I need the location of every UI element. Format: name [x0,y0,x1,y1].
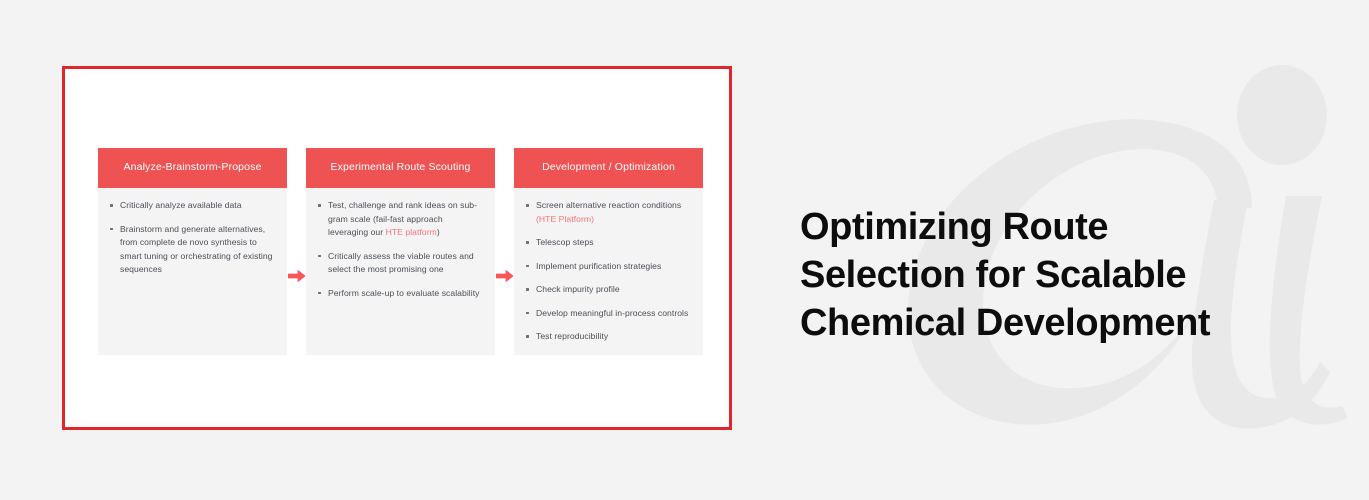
stage-body-development-optimization: Screen alternative reaction conditions (… [514,188,703,355]
bullet-text: Perform scale-up to evaluate scalability [328,288,480,298]
stage-column-experimental-route-scouting[interactable]: Experimental Route Scouting Test, challe… [306,148,495,355]
bullet-item: Critically assess the viable routes and … [316,250,485,277]
page-title-line-1: Optimizing Route [800,203,1320,251]
page-title-line-2: Selection for Scalable [800,251,1320,299]
bullet-text-tail: ) [437,227,440,237]
process-diagram-frame: Analyze-Brainstorm-Propose Critically an… [62,66,732,430]
bullet-item: Telescop steps [524,236,693,250]
bullet-item: Critically analyze available data [108,199,277,213]
right-arrow-icon [496,269,514,283]
bullet-item: Test reproducibility [524,330,693,344]
bullet-text: Brainstorm and generate alternatives, fr… [120,224,273,275]
stage-body-experimental-route-scouting: Test, challenge and rank ideas on sub-gr… [306,188,495,355]
arrow-stage1-to-stage2 [287,269,306,283]
bullet-text: Implement purification strategies [536,261,661,271]
hte-platform-link[interactable]: (HTE Platform) [536,214,594,224]
bullet-item: Test, challenge and rank ideas on sub-gr… [316,199,485,240]
right-arrow-icon [288,269,306,283]
stage-header-development-optimization: Development / Optimization [514,148,703,188]
bullet-item: Brainstorm and generate alternatives, fr… [108,223,277,277]
bullet-item: Implement purification strategies [524,260,693,274]
bullet-item: Perform scale-up to evaluate scalability [316,287,485,301]
stage-column-development-optimization[interactable]: Development / Optimization Screen altern… [514,148,703,355]
bullet-list-development-optimization: Screen alternative reaction conditions (… [524,199,693,344]
bullet-text: Develop meaningful in-process controls [536,308,688,318]
arrow-stage2-to-stage3 [495,269,514,283]
bullet-list-experimental-route-scouting: Test, challenge and rank ideas on sub-gr… [316,199,485,300]
stage-header-experimental-route-scouting: Experimental Route Scouting [306,148,495,188]
bullet-item: Screen alternative reaction conditions (… [524,199,693,226]
stage-header-analyze-brainstorm-propose: Analyze-Brainstorm-Propose [98,148,287,188]
bullet-text: Check impurity profile [536,284,620,294]
bullet-text: Critically analyze available data [120,200,242,210]
page-title: Optimizing Route Selection for Scalable … [800,203,1320,347]
page-title-line-3: Chemical Development [800,299,1320,347]
bullet-text: Telescop steps [536,237,594,247]
bullet-item: Develop meaningful in-process controls [524,307,693,321]
stage-columns-row: Analyze-Brainstorm-Propose Critically an… [98,148,706,355]
stage-column-analyze-brainstorm-propose[interactable]: Analyze-Brainstorm-Propose Critically an… [98,148,287,355]
bullet-list-analyze-brainstorm-propose: Critically analyze available data Brains… [108,199,277,277]
hte-platform-link[interactable]: HTE platform [386,227,437,237]
bullet-text: Screen alternative reaction conditions [536,200,681,210]
bullet-item: Check impurity profile [524,283,693,297]
bullet-text: Test reproducibility [536,331,608,341]
bullet-text: Critically assess the viable routes and … [328,251,474,275]
stage-body-analyze-brainstorm-propose: Critically analyze available data Brains… [98,188,287,355]
